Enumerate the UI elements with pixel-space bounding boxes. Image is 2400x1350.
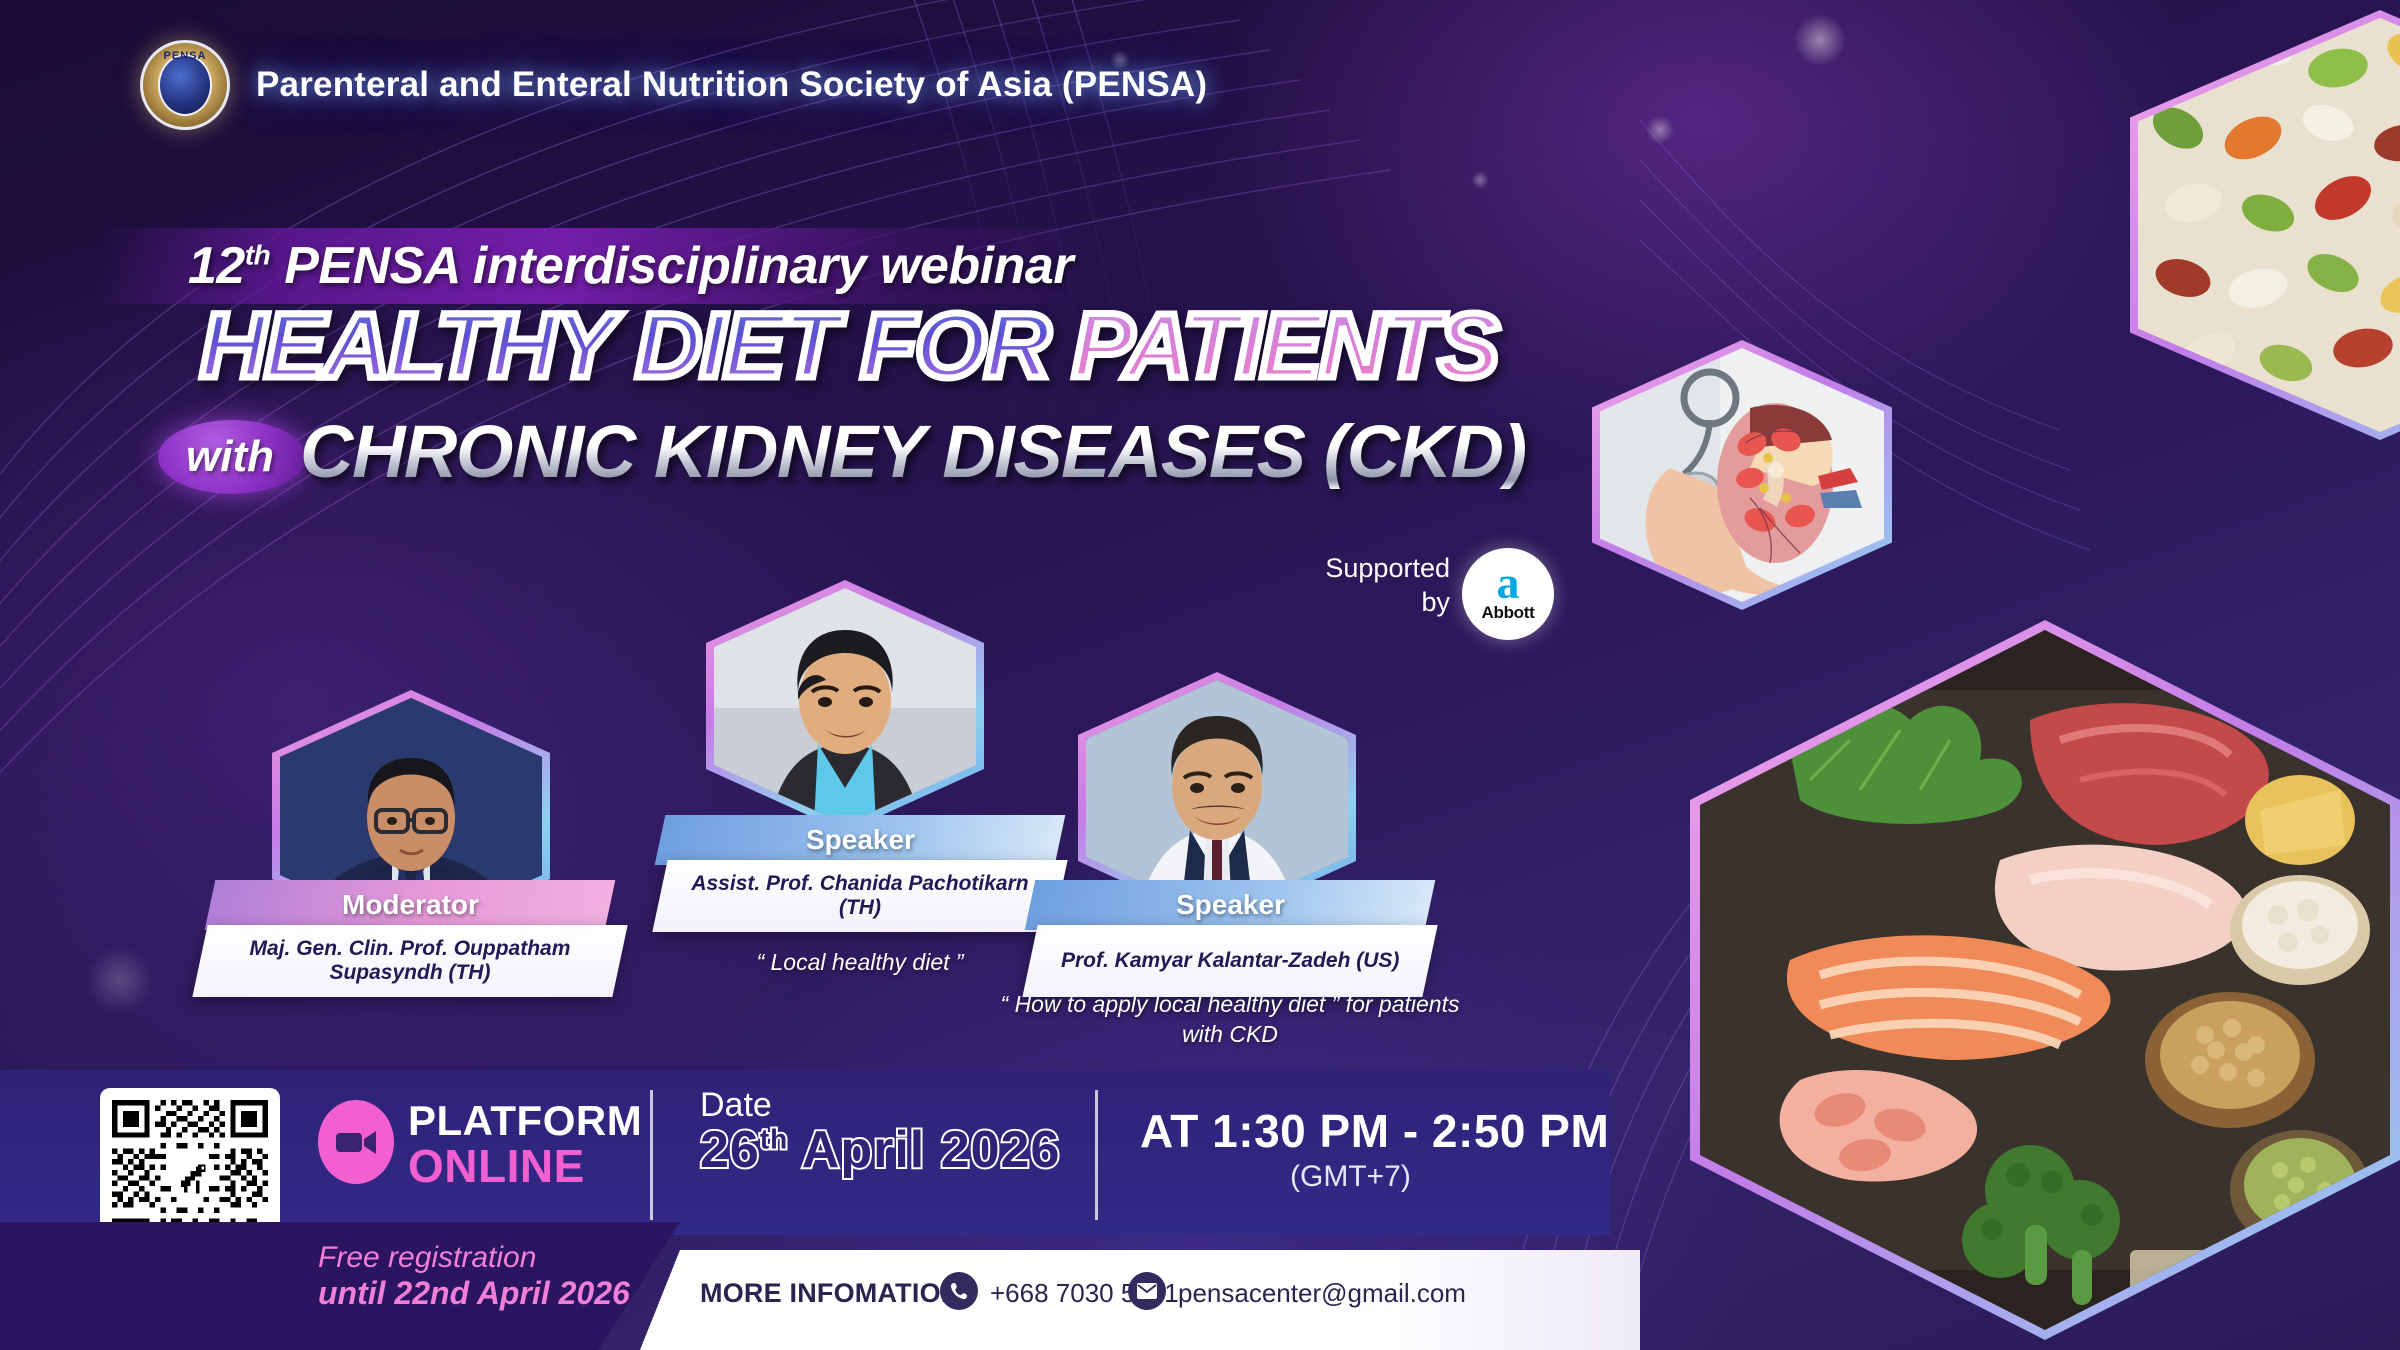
divider-2 <box>1095 1090 1098 1220</box>
kicker-number: 12 <box>188 237 245 295</box>
hex-food-photo <box>1700 630 2390 1330</box>
moderator-name-card: Maj. Gen. Clin. Prof. Ouppatham Supasynd… <box>192 925 627 997</box>
date-value: 26th April 2026 <box>700 1120 1060 1180</box>
abbott-mark: a <box>1497 565 1520 602</box>
platform-line-1: PLATFORM <box>408 1100 642 1143</box>
time-value: AT 1:30 PM - 2:50 PM <box>1140 1104 1609 1158</box>
speaker1-name-card: Assist. Prof. Chanida Pachotikarn (TH) <box>652 860 1067 932</box>
video-camera-icon <box>318 1100 394 1184</box>
phone-icon <box>940 1272 978 1310</box>
email-address: pensacenter@gmail.com <box>1178 1278 1466 1309</box>
with-label: with <box>186 432 274 482</box>
headline-accent-text: PATIENTS <box>1072 295 1497 397</box>
platform-label: PLATFORM ONLINE <box>408 1100 642 1190</box>
speaker2-name: Prof. Kamyar Kalantar-Zadeh (US) <box>1051 949 1409 973</box>
date-month-year: April 2026 <box>788 1121 1060 1179</box>
person-card-speaker-1 <box>706 580 984 832</box>
moderator-name: Maj. Gen. Clin. Prof. Ouppatham Supasynd… <box>200 937 620 985</box>
abbott-logo-icon: a Abbott <box>1462 548 1554 640</box>
speaker1-name: Assist. Prof. Chanida Pachotikarn (TH) <box>660 872 1060 920</box>
supported-by-label: Supported by <box>1300 552 1450 620</box>
supported-line-2: by <box>1300 586 1450 620</box>
abbott-wordmark: Abbott <box>1482 603 1535 623</box>
poster-header: PENSA Parenteral and Enteral Nutrition S… <box>140 40 1207 130</box>
webinar-kicker: 12th PENSA interdisciplinary webinar <box>188 236 1073 296</box>
headline-main-text: HEALTHY DIET FOR <box>200 295 1072 397</box>
webinar-poster: PENSA Parenteral and Enteral Nutrition S… <box>0 0 2400 1350</box>
speaker2-role-band: Speaker <box>1025 880 1436 930</box>
headline-primary: HEALTHY DIET FOR PATIENTS <box>200 300 1498 392</box>
speaker2-name-card: Prof. Kamyar Kalantar-Zadeh (US) <box>1022 925 1437 997</box>
platform-line-2: ONLINE <box>408 1143 642 1190</box>
free-registration-line-1: Free registration <box>318 1240 630 1275</box>
free-registration-line-2: until 22nd April 2026 <box>318 1275 630 1313</box>
hex-beans-photo <box>2138 18 2400 432</box>
timezone-value: (GMT+7) <box>1290 1160 1411 1194</box>
date-day: 26 <box>700 1121 760 1179</box>
kicker-rest: PENSA interdisciplinary webinar <box>270 237 1073 295</box>
speaker1-role-label: Speaker <box>806 824 915 856</box>
pensa-logo-text: PENSA <box>143 50 227 62</box>
speaker1-topic: “ Local healthy diet ” <box>660 948 1060 978</box>
speaker1-role-band: Speaker <box>655 815 1066 865</box>
pensa-logo-globe <box>158 54 212 116</box>
moderator-role-label: Moderator <box>342 889 479 921</box>
dinosaur-icon <box>171 1159 209 1197</box>
supported-line-1: Supported <box>1300 552 1450 586</box>
organization-title: Parenteral and Enteral Nutrition Society… <box>256 65 1207 105</box>
speaker2-role-label: Speaker <box>1176 889 1285 921</box>
kicker-ordinal: th <box>245 240 270 271</box>
more-information-label: MORE INFOMATION <box>700 1278 960 1309</box>
pensa-logo-icon: PENSA <box>140 40 230 130</box>
divider-1 <box>650 1090 653 1220</box>
speaker2-topic: “ How to apply local healthy diet ” for … <box>1000 990 1460 1050</box>
date-day-ordinal: th <box>760 1124 788 1155</box>
moderator-role-band: Moderator <box>205 880 616 930</box>
envelope-icon <box>1128 1272 1166 1310</box>
headline-secondary: CHRONIC KIDNEY DISEASES (CKD) <box>300 415 1526 489</box>
free-registration-text: Free registration until 22nd April 2026 <box>318 1240 630 1313</box>
